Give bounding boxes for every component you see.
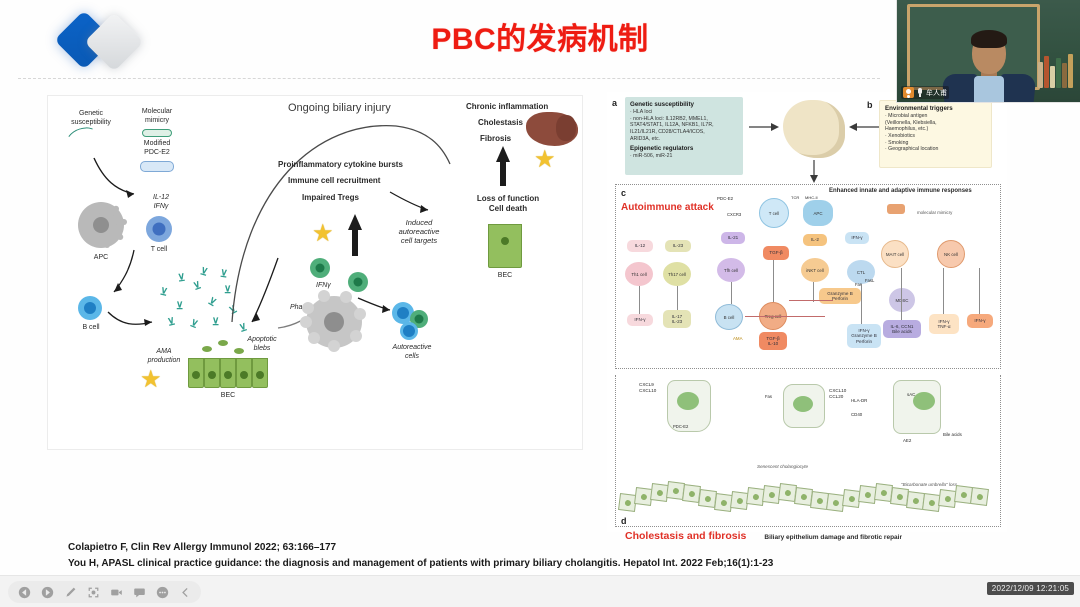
antibody-icon: ⊻ (219, 270, 228, 281)
label-apoptotic-blebs: Apoptotic blebs (238, 336, 286, 353)
star-marker: ★ (534, 148, 556, 172)
bacteria-icon (887, 204, 905, 214)
panel-a-box: Genetic susceptibility · HLA loci · non-… (625, 97, 743, 175)
antibody-icon: ⊻ (212, 318, 219, 328)
panel-a-bullet: IL21/IL21R, CD28/CTLA4/ICOS, (630, 129, 738, 136)
node-il12: IL-12 (627, 240, 653, 252)
nucleus (677, 392, 699, 410)
video-tile[interactable]: 牟人甫 (896, 0, 1080, 103)
node-mdsc: MDSC (889, 288, 915, 312)
label-immune-recruitment: Immune cell recruitment (288, 176, 380, 186)
node-cd40: CD40 (851, 412, 862, 417)
antibody-icon: ⊻ (188, 319, 199, 331)
star-marker: ★ (312, 222, 334, 246)
panel-b-bullet: Haemophilus, etc.) (885, 126, 986, 133)
node-il2: IL-2 (803, 234, 827, 246)
node-il17-il23: IL-17 IL-23 (663, 310, 691, 328)
arrow-apc-to-bcell (108, 248, 148, 300)
pen-icon[interactable] (63, 585, 77, 599)
panel-b-bullet: · Smoking (885, 140, 986, 147)
node-tgfb-il10: TGF-β IL-10 (759, 332, 787, 350)
node-il6-ccn1-bileacids: IL-6, CCN1 Bile acids (883, 320, 921, 338)
antibody-icon: ⊻ (177, 274, 186, 285)
panel-b-letter: b (867, 100, 873, 110)
node-ifng-tnfa: IFN-γ TNF-α (929, 314, 959, 334)
panel-b-heading: Environmental triggers (885, 105, 986, 113)
node-bile-acids: Bile acids (943, 432, 962, 437)
label-ama-production: AMA production (134, 348, 194, 365)
label-bec-right: BEC (478, 272, 532, 281)
citation-line: You H, APASL clinical practice guidance:… (68, 556, 773, 572)
node-cxcr3: CXCR3 (727, 212, 741, 217)
panel-b-bullet: (Veillonella, Klebsiella, (885, 120, 986, 127)
node-tcr: TCR (791, 196, 799, 201)
node-fasl: FasL (865, 278, 874, 283)
node-il21: IL-21 (721, 232, 745, 244)
inhibition-line (745, 316, 825, 317)
node-senescent-cholangiocyte: Senescent cholangiocyte (757, 464, 808, 470)
label-genetic-susceptibility: Genetic susceptibility (60, 110, 122, 127)
label-autoreactive-cells: Autoreactive cells (382, 344, 442, 361)
node-th1-cell: Th1 cell (625, 262, 653, 286)
label-induced-targets: Induced autoreactive cell targets (384, 218, 454, 245)
node-ama: AMA (733, 336, 743, 341)
node-cxcl10-ccl20: CXCL10 CCL20 (829, 388, 846, 399)
figure-right-mechanism: a Genetic susceptibility · HLA loci · no… (607, 92, 1007, 532)
panel-a-heading2: Epigenetic regulators (630, 145, 738, 153)
panel-c-letter: c (621, 188, 626, 198)
connector-line (861, 284, 862, 324)
antibody-icon: ⊻ (193, 281, 203, 293)
label-bec-bottom: BEC (188, 392, 268, 401)
node-il23: IL-23 (665, 240, 691, 252)
previous-slide-icon[interactable] (17, 585, 31, 599)
bec-cell-right (488, 224, 522, 268)
node-ifng-2: IFN-γ (627, 314, 653, 326)
antibody-icon: ⊻ (159, 287, 168, 298)
arrow-genetic-to-apc (88, 154, 148, 200)
panel-a-bullet: STAT4/STAT1, IL12A, NFKB1, IL7R, (630, 122, 738, 129)
node-sac: sAC (907, 392, 915, 397)
panel-a-bullet: · HLA loci (630, 109, 738, 116)
arrow-liver-down (807, 158, 821, 186)
panel-b-bullet: · Microbial antigen (885, 113, 986, 120)
bookshelf (1036, 46, 1078, 88)
arrow-a-to-liver (747, 120, 783, 134)
node-th17-cell: Th17 cell (663, 262, 691, 286)
node-fas-d: Fas (765, 394, 772, 399)
panel-d-subtitle: Biliary epithelium damage and fibrotic r… (764, 534, 902, 541)
arrow-up-tail (352, 230, 358, 256)
node-hla-dr: HLA-DR (851, 398, 867, 403)
panel-a-heading1: Genetic susceptibility (630, 101, 738, 109)
bile-duct-epithelium (619, 482, 997, 526)
participant-name-plate: 牟人甫 (901, 86, 949, 99)
label-chronic-inflammation: Chronic inflammation (466, 102, 548, 112)
more-icon[interactable] (155, 585, 169, 599)
node-cxcl9-cxcl10: CXCL9 CXCL10 (639, 382, 656, 393)
label-molecular-mimicry: Molecular mimicry (126, 108, 188, 125)
panel-c-title: Autoimmune attack (621, 202, 714, 213)
arrow-b-to-liver (845, 120, 881, 134)
dna-strand-icon (63, 123, 103, 156)
node-ifng-granzyme-perforin: IFN-γ Granzyme B Perforin (847, 324, 881, 348)
label-fibrosis: Fibrosis (480, 134, 511, 144)
nucleus (913, 392, 935, 410)
node-ae2: AE2 (903, 438, 911, 443)
panel-a-letter: a (612, 98, 617, 108)
node-granzymeb-perforin: Granzyme B Perforin (819, 288, 861, 304)
arrow-up-icon (496, 146, 510, 162)
arrow-bcell-to-ama (106, 308, 162, 330)
panel-a-bullet: ARID3A, etc. (630, 136, 738, 143)
liver-illustration (783, 100, 845, 158)
label-impaired-tregs: Impaired Tregs (302, 193, 359, 203)
b-cell (78, 296, 102, 320)
connector-line (979, 268, 980, 314)
nucleus (793, 396, 813, 412)
panel-b-box: Environmental triggers · Microbial antig… (879, 100, 992, 168)
speaker-figure (941, 32, 1037, 102)
playback-toolbar[interactable] (8, 581, 201, 603)
presentation-screen: PBC的发病机制 Genetic susceptibility Molecula… (0, 0, 1080, 607)
liver-icon (526, 112, 578, 146)
citations: Colapietro F, Clin Rev Allergy Immunol 2… (68, 540, 773, 571)
connector-line (943, 268, 944, 314)
node-t-cell: T cell (759, 198, 789, 228)
play-icon[interactable] (40, 585, 54, 599)
label-cholestasis: Cholestasis (478, 118, 523, 128)
slide-area: PBC的发病机制 Genetic susceptibility Molecula… (0, 0, 1080, 575)
focus-icon[interactable] (86, 585, 100, 599)
bottom-bar: 2022/12/09 12:21:05 (0, 575, 1080, 607)
shirt (974, 76, 1004, 102)
node-pdce2-d: PDC-E2 (673, 424, 688, 429)
connector-line (773, 260, 774, 302)
inhibition-line (789, 300, 833, 301)
panel-b-bullet: · Geographical location (885, 146, 986, 153)
connector-line (813, 282, 814, 302)
person-avatar-icon (903, 87, 914, 98)
bec-epithelium-bottom (188, 358, 268, 388)
node-tfh-cell: Tfh cell (717, 258, 745, 282)
connector-line (901, 268, 902, 320)
panel-a-bullet: · non-HLA loci: IL12RB2, MMEL1, (630, 116, 738, 123)
label-loss-of-function: Loss of function Cell death (462, 194, 554, 214)
comment-icon[interactable] (132, 585, 146, 599)
panel-b-bullet: · Xenobiotics (885, 133, 986, 140)
node-mait-cell: MAIT cell (881, 240, 909, 268)
node-pdce2: PDC-E2 (717, 196, 733, 201)
antibody-icon: ⊻ (199, 267, 209, 279)
node-apc: APC (803, 200, 833, 226)
label-proinflammatory: Proinflammatory cytokine bursts (278, 160, 403, 170)
collapse-icon[interactable] (178, 585, 192, 599)
arrow-up-tail (500, 162, 506, 186)
header-divider (18, 78, 880, 79)
participant-name: 牟人甫 (926, 88, 947, 98)
mimicry-peptide-shape (142, 129, 172, 137)
arrow-up-icon (348, 214, 362, 230)
timestamp: 2022/12/09 12:21:05 (987, 582, 1074, 595)
arrow-to-induced-targets (388, 190, 438, 214)
node-molecular-mimicry: molecular mimicry (917, 210, 952, 215)
apc-cell (78, 202, 124, 248)
node-tgfb: TGF-β (763, 246, 789, 260)
t-cell (146, 216, 172, 242)
node-inkt-cell: iNKT cell (801, 258, 829, 282)
label-ongoing-biliary-injury: Ongoing biliary injury (288, 102, 391, 115)
antibody-icon: ⊻ (176, 302, 183, 312)
node-ifng: IFN-γ (845, 232, 869, 244)
antibody-icon: ⊻ (167, 317, 177, 328)
node-nk-cell: NK cell (937, 240, 965, 268)
connector-line (677, 286, 678, 310)
node-b-cell: B cell (715, 304, 743, 330)
camera-icon[interactable] (109, 585, 123, 599)
connector-line (731, 282, 732, 304)
panel-d-letter: d (621, 516, 627, 526)
microphone-icon (916, 87, 924, 98)
star-marker: ★ (140, 368, 162, 392)
panel-c-header-right: Enhanced innate and adaptive immune resp… (829, 188, 972, 195)
hair (971, 30, 1007, 48)
panel-a-bullet: · miR-506, miR-21 (630, 153, 738, 160)
citation-line: Colapietro F, Clin Rev Allergy Immunol 2… (68, 540, 773, 556)
connector-line (639, 286, 640, 314)
figure-left-pathogenesis: Genetic susceptibility Molecular mimicry… (47, 95, 583, 450)
antibody-icon: ⊻ (206, 297, 217, 309)
label-il12-ifng: IL-12 IFNγ (140, 194, 182, 211)
node-ifng-3: IFN-γ (967, 314, 993, 328)
